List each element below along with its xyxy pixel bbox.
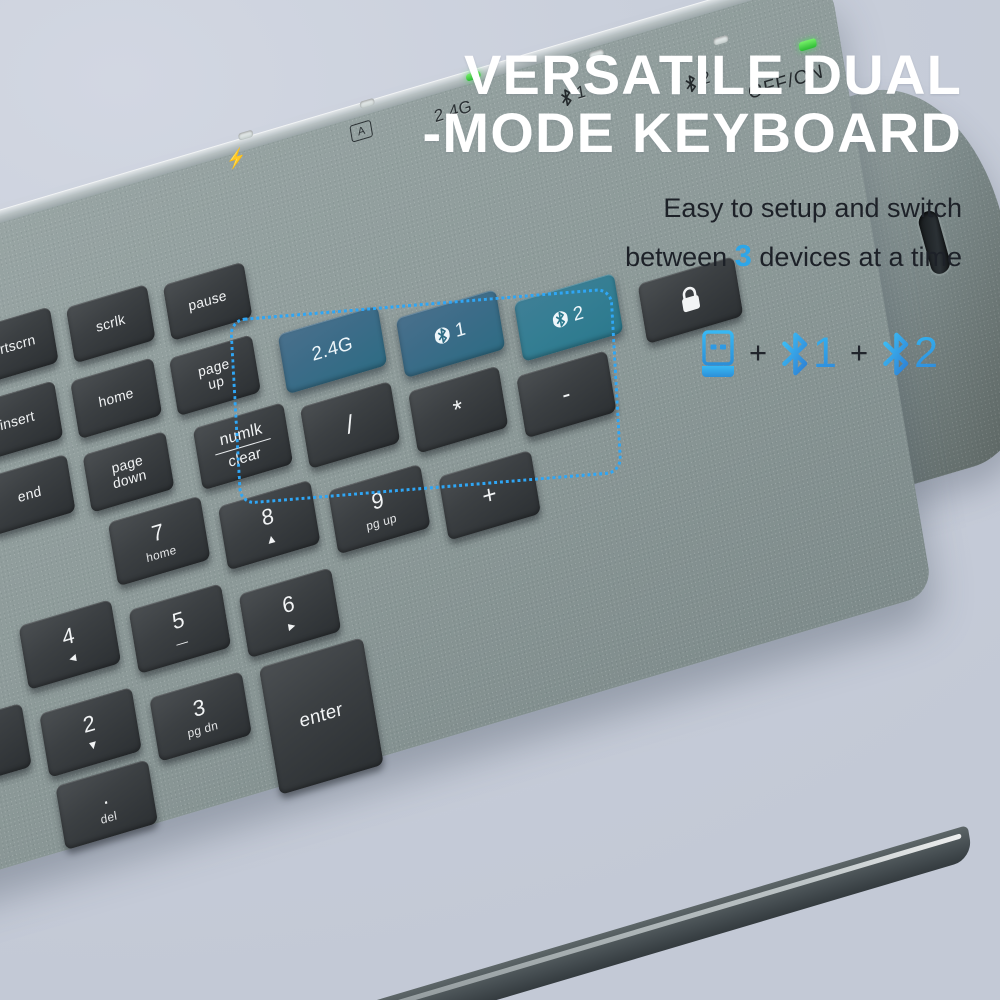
key-bluetooth-2-label: 2 (572, 303, 586, 326)
key-asterisk-label: * (451, 396, 465, 424)
bluetooth-2-group: 2 (881, 332, 938, 376)
subtitle-line-1: Easy to setup and switch (342, 187, 962, 231)
key-enter-label: enter (298, 700, 344, 733)
key-num-3-sub: pg dn (187, 719, 219, 741)
arrow-down-icon: ▲ (86, 738, 100, 753)
key-bluetooth-1-label: 1 (454, 319, 468, 342)
bluetooth-icon (552, 308, 570, 331)
subtitle-line-2: between 3 devices at a time (342, 231, 962, 281)
key-num-6-main: 6 (281, 591, 297, 618)
key-minus-label: - (560, 381, 572, 408)
product-marketing-image: ⚡ A 2.4G 1 2 OFF/ON F12 (0, 0, 1000, 1000)
subtitle-before: between (625, 242, 735, 272)
key-24g-label: 2.4G (310, 334, 354, 366)
bluetooth-icon (881, 332, 912, 376)
key-num-9-main: 9 (370, 488, 386, 515)
usb-dongle-icon (700, 330, 736, 378)
keyboard-bottom-highlight (0, 833, 962, 1000)
marketing-copy: VERSATILE DUAL -MODE KEYBOARD Easy to se… (342, 46, 962, 281)
key-bluetooth-1-content: 1 (434, 319, 468, 348)
lock-icon (676, 283, 706, 318)
key-num-3-main: 3 (191, 695, 207, 722)
key-num-4-main: 4 (60, 623, 76, 650)
connection-modes-row: + 1 + (700, 330, 938, 378)
key-num-2-main: 2 (81, 711, 97, 738)
headline-line-1: VERSATILE DUAL (464, 43, 962, 106)
key-page-up-line2: up (207, 373, 225, 393)
key-slash-label: / (345, 411, 356, 438)
key-num-5-main: 5 (171, 607, 187, 634)
key-num-7-main: 7 (150, 519, 166, 546)
key-num-7-sub: home (145, 543, 177, 565)
page-title: VERSATILE DUAL -MODE KEYBOARD (342, 46, 962, 161)
arrow-right-icon: ▲ (285, 619, 299, 635)
bluetooth-icon (434, 324, 452, 347)
key-num-5-dash: — (175, 635, 189, 650)
device-count: 3 (735, 238, 752, 273)
key-num-8-main: 8 (260, 503, 276, 530)
bluetooth-icon (780, 332, 811, 376)
bluetooth-1-label: 1 (813, 332, 837, 375)
bluetooth-2-label: 2 (914, 332, 938, 375)
arrow-up-icon: ▲ (265, 531, 279, 546)
key-dot-main: . (100, 784, 110, 809)
key-dot-sub: del (100, 809, 118, 827)
key-num-9-sub: pg up (365, 511, 397, 533)
bluetooth-1-group: 1 (780, 332, 837, 376)
headline-line-2: -MODE KEYBOARD (342, 104, 962, 162)
plus-separator-2: + (850, 337, 868, 368)
plus-separator-1: + (749, 337, 767, 368)
subtitle-after: devices at a time (752, 242, 962, 272)
subtitle: Easy to setup and switch between 3 devic… (342, 187, 962, 281)
arrow-left-icon: ▲ (65, 651, 79, 667)
key-plus-label: + (480, 481, 498, 510)
key-bluetooth-2-content: 2 (552, 303, 586, 332)
